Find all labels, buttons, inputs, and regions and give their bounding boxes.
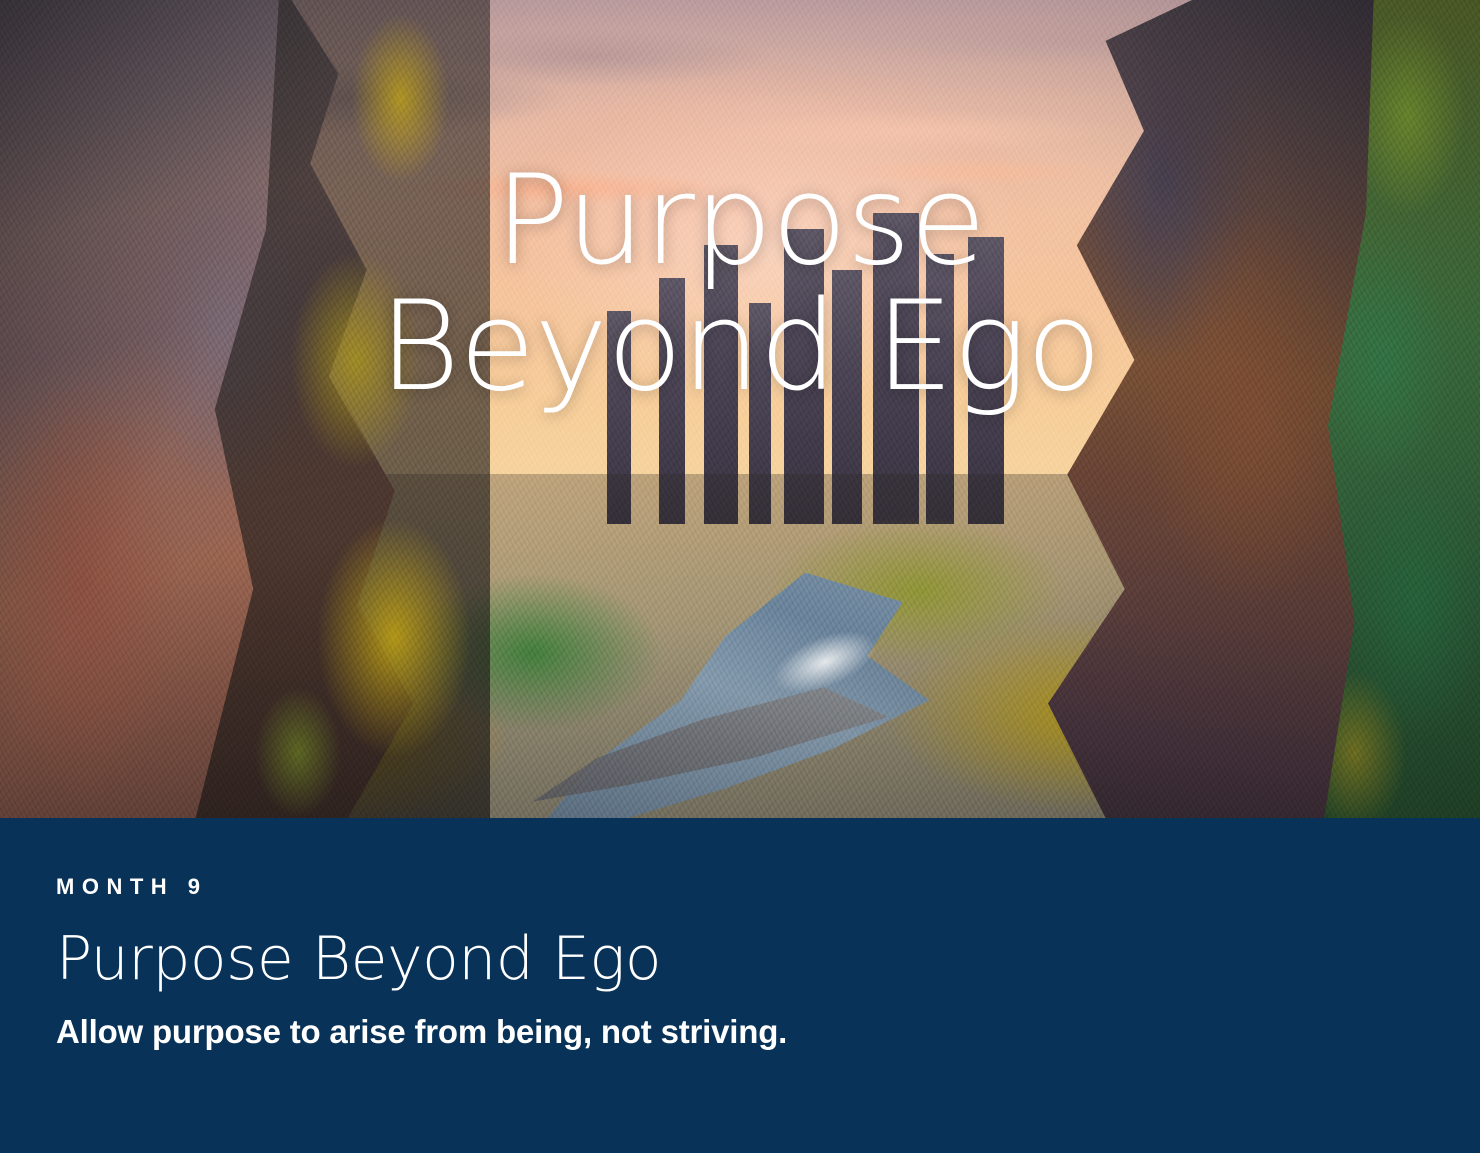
photo-vignette (0, 0, 1480, 818)
info-band: MONTH 9 Purpose Beyond Ego Allow purpose… (0, 818, 1480, 1153)
lesson-title: Purpose Beyond Ego (56, 928, 1424, 992)
lesson-subtitle: Allow purpose to arise from being, not s… (56, 1012, 1424, 1052)
hero-image (0, 0, 1480, 818)
month-label: MONTH 9 (56, 876, 1424, 898)
lesson-card: Purpose Beyond Ego MONTH 9 Purpose Beyon… (0, 0, 1480, 1153)
